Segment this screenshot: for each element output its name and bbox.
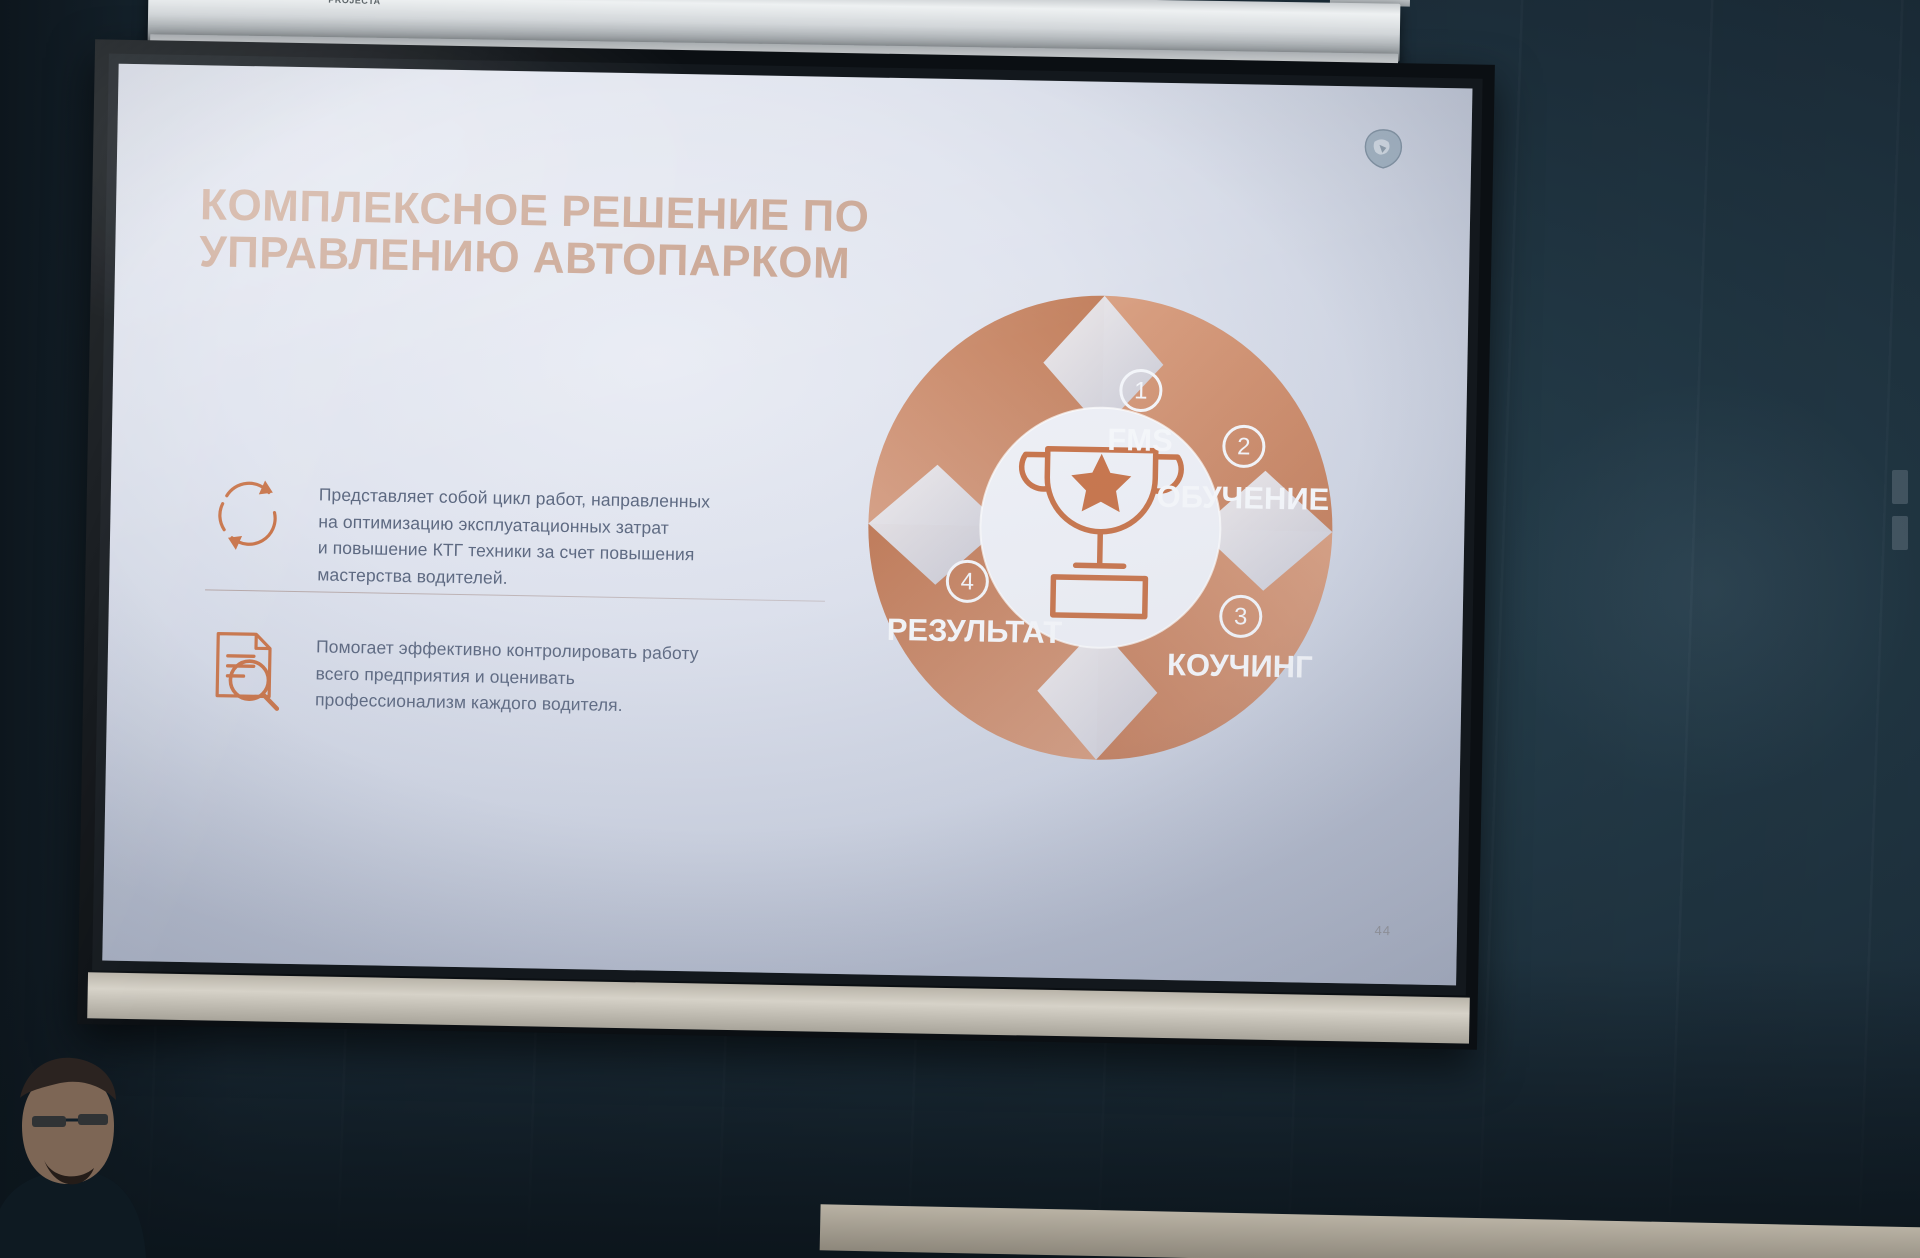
info-block-cycle: Представляет собой цикл работ, направлен… — [205, 469, 827, 597]
slice-label: FMS — [1107, 422, 1173, 458]
slice-number: 1 — [1134, 377, 1148, 404]
wall-socket-upper — [1892, 470, 1908, 504]
slice-label: ОБУЧЕНИЕ — [1156, 479, 1329, 517]
projection-screen: КОМПЛЕКСНОЕ РЕШЕНИЕ ПО УПРАВЛЕНИЮ АВТОПА… — [77, 39, 1495, 1049]
wall-highlight-right — [1500, 380, 1920, 800]
person-silhouette — [0, 978, 252, 1258]
slice-label: КОУЧИНГ — [1167, 647, 1313, 685]
info-block-control: Помогает эффективно контролировать работ… — [203, 621, 825, 724]
info-line: профессионализм каждого водителя. — [315, 687, 698, 721]
cycle-arrows-icon — [206, 469, 294, 563]
scania-griffin-logo — [1361, 126, 1406, 171]
slice-number: 2 — [1237, 433, 1251, 460]
info-block-cycle-text: Представляет собой цикл работ, направлен… — [317, 471, 710, 595]
page-number: 44 — [1374, 923, 1391, 938]
cycle-diagram: 1 FMS 2 ОБУЧЕНИЕ 3 КОУЧИНГ — [846, 273, 1355, 782]
wall-socket-lower — [1892, 516, 1908, 550]
info-block-control-text: Помогает эффективно контролировать работ… — [315, 623, 699, 720]
slice-label: РЕЗУЛЬТАТ — [886, 612, 1062, 650]
page-title: КОМПЛЕКСНОЕ РЕШЕНИЕ ПО УПРАВЛЕНИЮ АВТОПА… — [199, 181, 961, 289]
projected-slide-canvas: КОМПЛЕКСНОЕ РЕШЕНИЕ ПО УПРАВЛЕНИЮ АВТОПА… — [102, 64, 1472, 986]
slice-number: 4 — [960, 568, 974, 595]
document-magnifier-icon — [203, 621, 291, 715]
slice-number: 3 — [1234, 603, 1248, 630]
slide: КОМПЛЕКСНОЕ РЕШЕНИЕ ПО УПРАВЛЕНИЮ АВТОПА… — [102, 64, 1472, 986]
conference-room-scene: PROJECTA КОМПЛЕКСНОЕ РЕШЕНИЕ ПО УПРАВЛЕН… — [0, 0, 1920, 1258]
housing-brand-label: PROJECTA — [328, 0, 381, 6]
